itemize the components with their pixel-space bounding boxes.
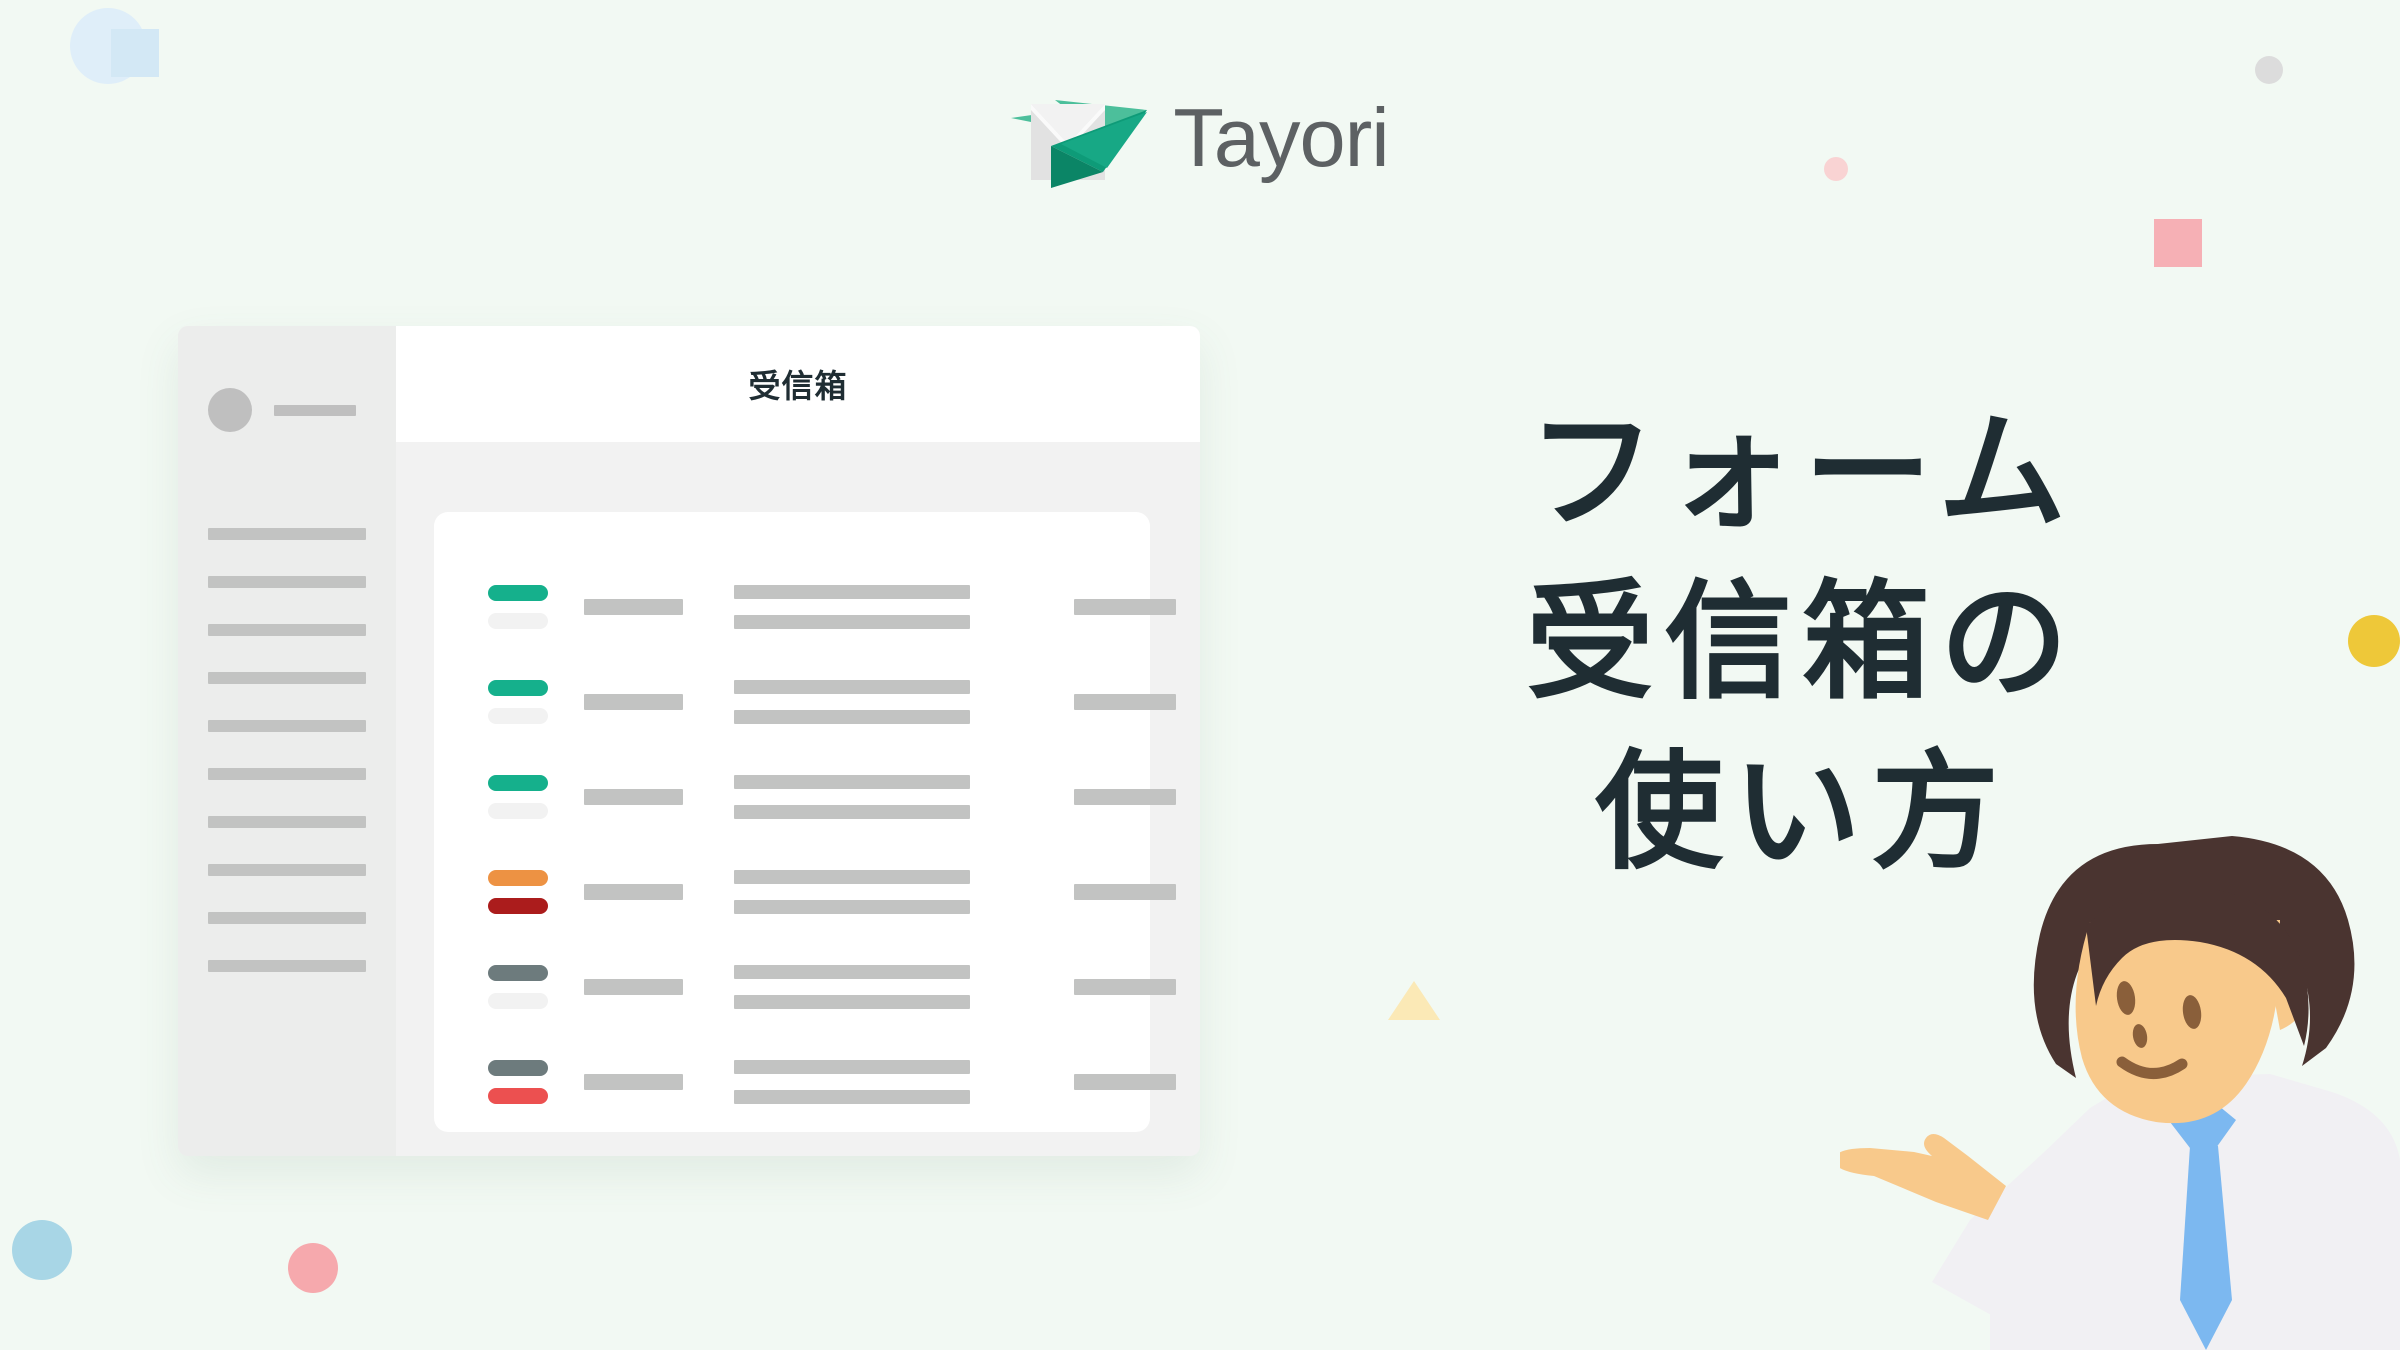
row-sender-cell (584, 789, 734, 805)
row-status-tags (488, 965, 584, 1009)
sidebar-nav-item-7[interactable] (208, 816, 366, 828)
avatar (208, 388, 252, 432)
row-subject-cell (734, 680, 1074, 724)
sender-placeholder (584, 789, 683, 805)
sender-placeholder (584, 884, 683, 900)
date-placeholder (1074, 884, 1176, 900)
table-row[interactable] (434, 861, 1150, 923)
row-status-tags (488, 775, 584, 819)
brand-header: Tayori (0, 88, 2400, 192)
sender-placeholder (584, 694, 683, 710)
status-badge-1 (488, 585, 548, 601)
sidebar-nav-list (208, 528, 366, 972)
row-subject-cell (734, 585, 1074, 629)
headline: フォーム 受信箱の 使い方 (1452, 388, 2152, 899)
table-row[interactable] (434, 1051, 1150, 1113)
status-badge-2 (488, 613, 548, 629)
row-date-cell (1074, 599, 1176, 615)
row-status-tags (488, 680, 584, 724)
row-date-cell (1074, 694, 1176, 710)
status-badge-2 (488, 993, 548, 1009)
sidebar-user-block[interactable] (208, 388, 366, 432)
status-badge-1 (488, 965, 548, 981)
sidebar-nav-item-2[interactable] (208, 576, 366, 588)
row-status-tags (488, 870, 584, 914)
sidebar-nav-item-10[interactable] (208, 960, 366, 972)
headline-line-1: フォーム (1452, 388, 2152, 558)
date-placeholder (1074, 979, 1176, 995)
status-badge-2 (488, 803, 548, 819)
mockup-body (396, 442, 1200, 1156)
row-date-cell (1074, 789, 1176, 805)
row-date-cell (1074, 1074, 1176, 1090)
sidebar-nav-item-8[interactable] (208, 864, 366, 876)
row-sender-cell (584, 884, 734, 900)
circle-pink-bottom-left (288, 1243, 338, 1293)
subject-placeholder-2 (734, 995, 970, 1009)
subject-placeholder-1 (734, 870, 970, 884)
subject-placeholder-1 (734, 680, 970, 694)
triangle-yellow-center (1388, 981, 1440, 1020)
sidebar-nav-item-9[interactable] (208, 912, 366, 924)
table-row[interactable] (434, 956, 1150, 1018)
sidebar-nav-item-6[interactable] (208, 768, 366, 780)
square-pink-right (2154, 219, 2202, 267)
mockup-sidebar (178, 326, 396, 1156)
mockup-topbar: 受信箱 (396, 326, 1200, 442)
status-badge-2 (488, 898, 548, 914)
subject-placeholder-1 (734, 775, 970, 789)
person-presenting-icon (1840, 830, 2400, 1350)
date-placeholder (1074, 1074, 1176, 1090)
tayori-logo-icon (1011, 88, 1147, 192)
circle-blue-bottom-left (12, 1220, 72, 1280)
app-mockup-window: 受信箱 (178, 326, 1200, 1156)
brand-name: Tayori (1173, 96, 1388, 185)
row-status-tags (488, 1060, 584, 1104)
sender-placeholder (584, 599, 683, 615)
mockup-main-area: 受信箱 (396, 326, 1200, 1156)
table-row[interactable] (434, 576, 1150, 638)
circle-yellow-right (2348, 615, 2400, 667)
table-row[interactable] (434, 671, 1150, 733)
row-subject-cell (734, 965, 1074, 1009)
sidebar-nav-item-4[interactable] (208, 672, 366, 684)
row-subject-cell (734, 870, 1074, 914)
subject-placeholder-2 (734, 805, 970, 819)
inbox-card (434, 512, 1150, 1132)
dot-gray-top-right (2255, 56, 2283, 84)
subject-placeholder-1 (734, 1060, 970, 1074)
inbox-row-list (434, 576, 1150, 1113)
sidebar-nav-item-5[interactable] (208, 720, 366, 732)
date-placeholder (1074, 789, 1176, 805)
status-badge-1 (488, 775, 548, 791)
user-name-placeholder (274, 405, 356, 416)
status-badge-1 (488, 1060, 548, 1076)
sender-placeholder (584, 1074, 683, 1090)
row-sender-cell (584, 979, 734, 995)
headline-line-2: 受信箱の (1452, 558, 2152, 728)
row-subject-cell (734, 1060, 1074, 1104)
row-sender-cell (584, 694, 734, 710)
date-placeholder (1074, 694, 1176, 710)
date-placeholder (1074, 599, 1176, 615)
subject-placeholder-2 (734, 615, 970, 629)
sidebar-nav-item-3[interactable] (208, 624, 366, 636)
row-sender-cell (584, 599, 734, 615)
status-badge-2 (488, 1088, 548, 1104)
row-subject-cell (734, 775, 1074, 819)
status-badge-1 (488, 870, 548, 886)
sender-placeholder (584, 979, 683, 995)
sidebar-nav-item-1[interactable] (208, 528, 366, 540)
row-date-cell (1074, 884, 1176, 900)
status-badge-1 (488, 680, 548, 696)
subject-placeholder-1 (734, 585, 970, 599)
subject-placeholder-2 (734, 1090, 970, 1104)
status-badge-2 (488, 708, 548, 724)
page-title: 受信箱 (748, 361, 847, 407)
row-status-tags (488, 585, 584, 629)
subject-placeholder-2 (734, 900, 970, 914)
table-row[interactable] (434, 766, 1150, 828)
subject-placeholder-2 (734, 710, 970, 724)
subject-placeholder-1 (734, 965, 970, 979)
square-blue-top-left (111, 29, 159, 77)
row-sender-cell (584, 1074, 734, 1090)
row-date-cell (1074, 979, 1176, 995)
